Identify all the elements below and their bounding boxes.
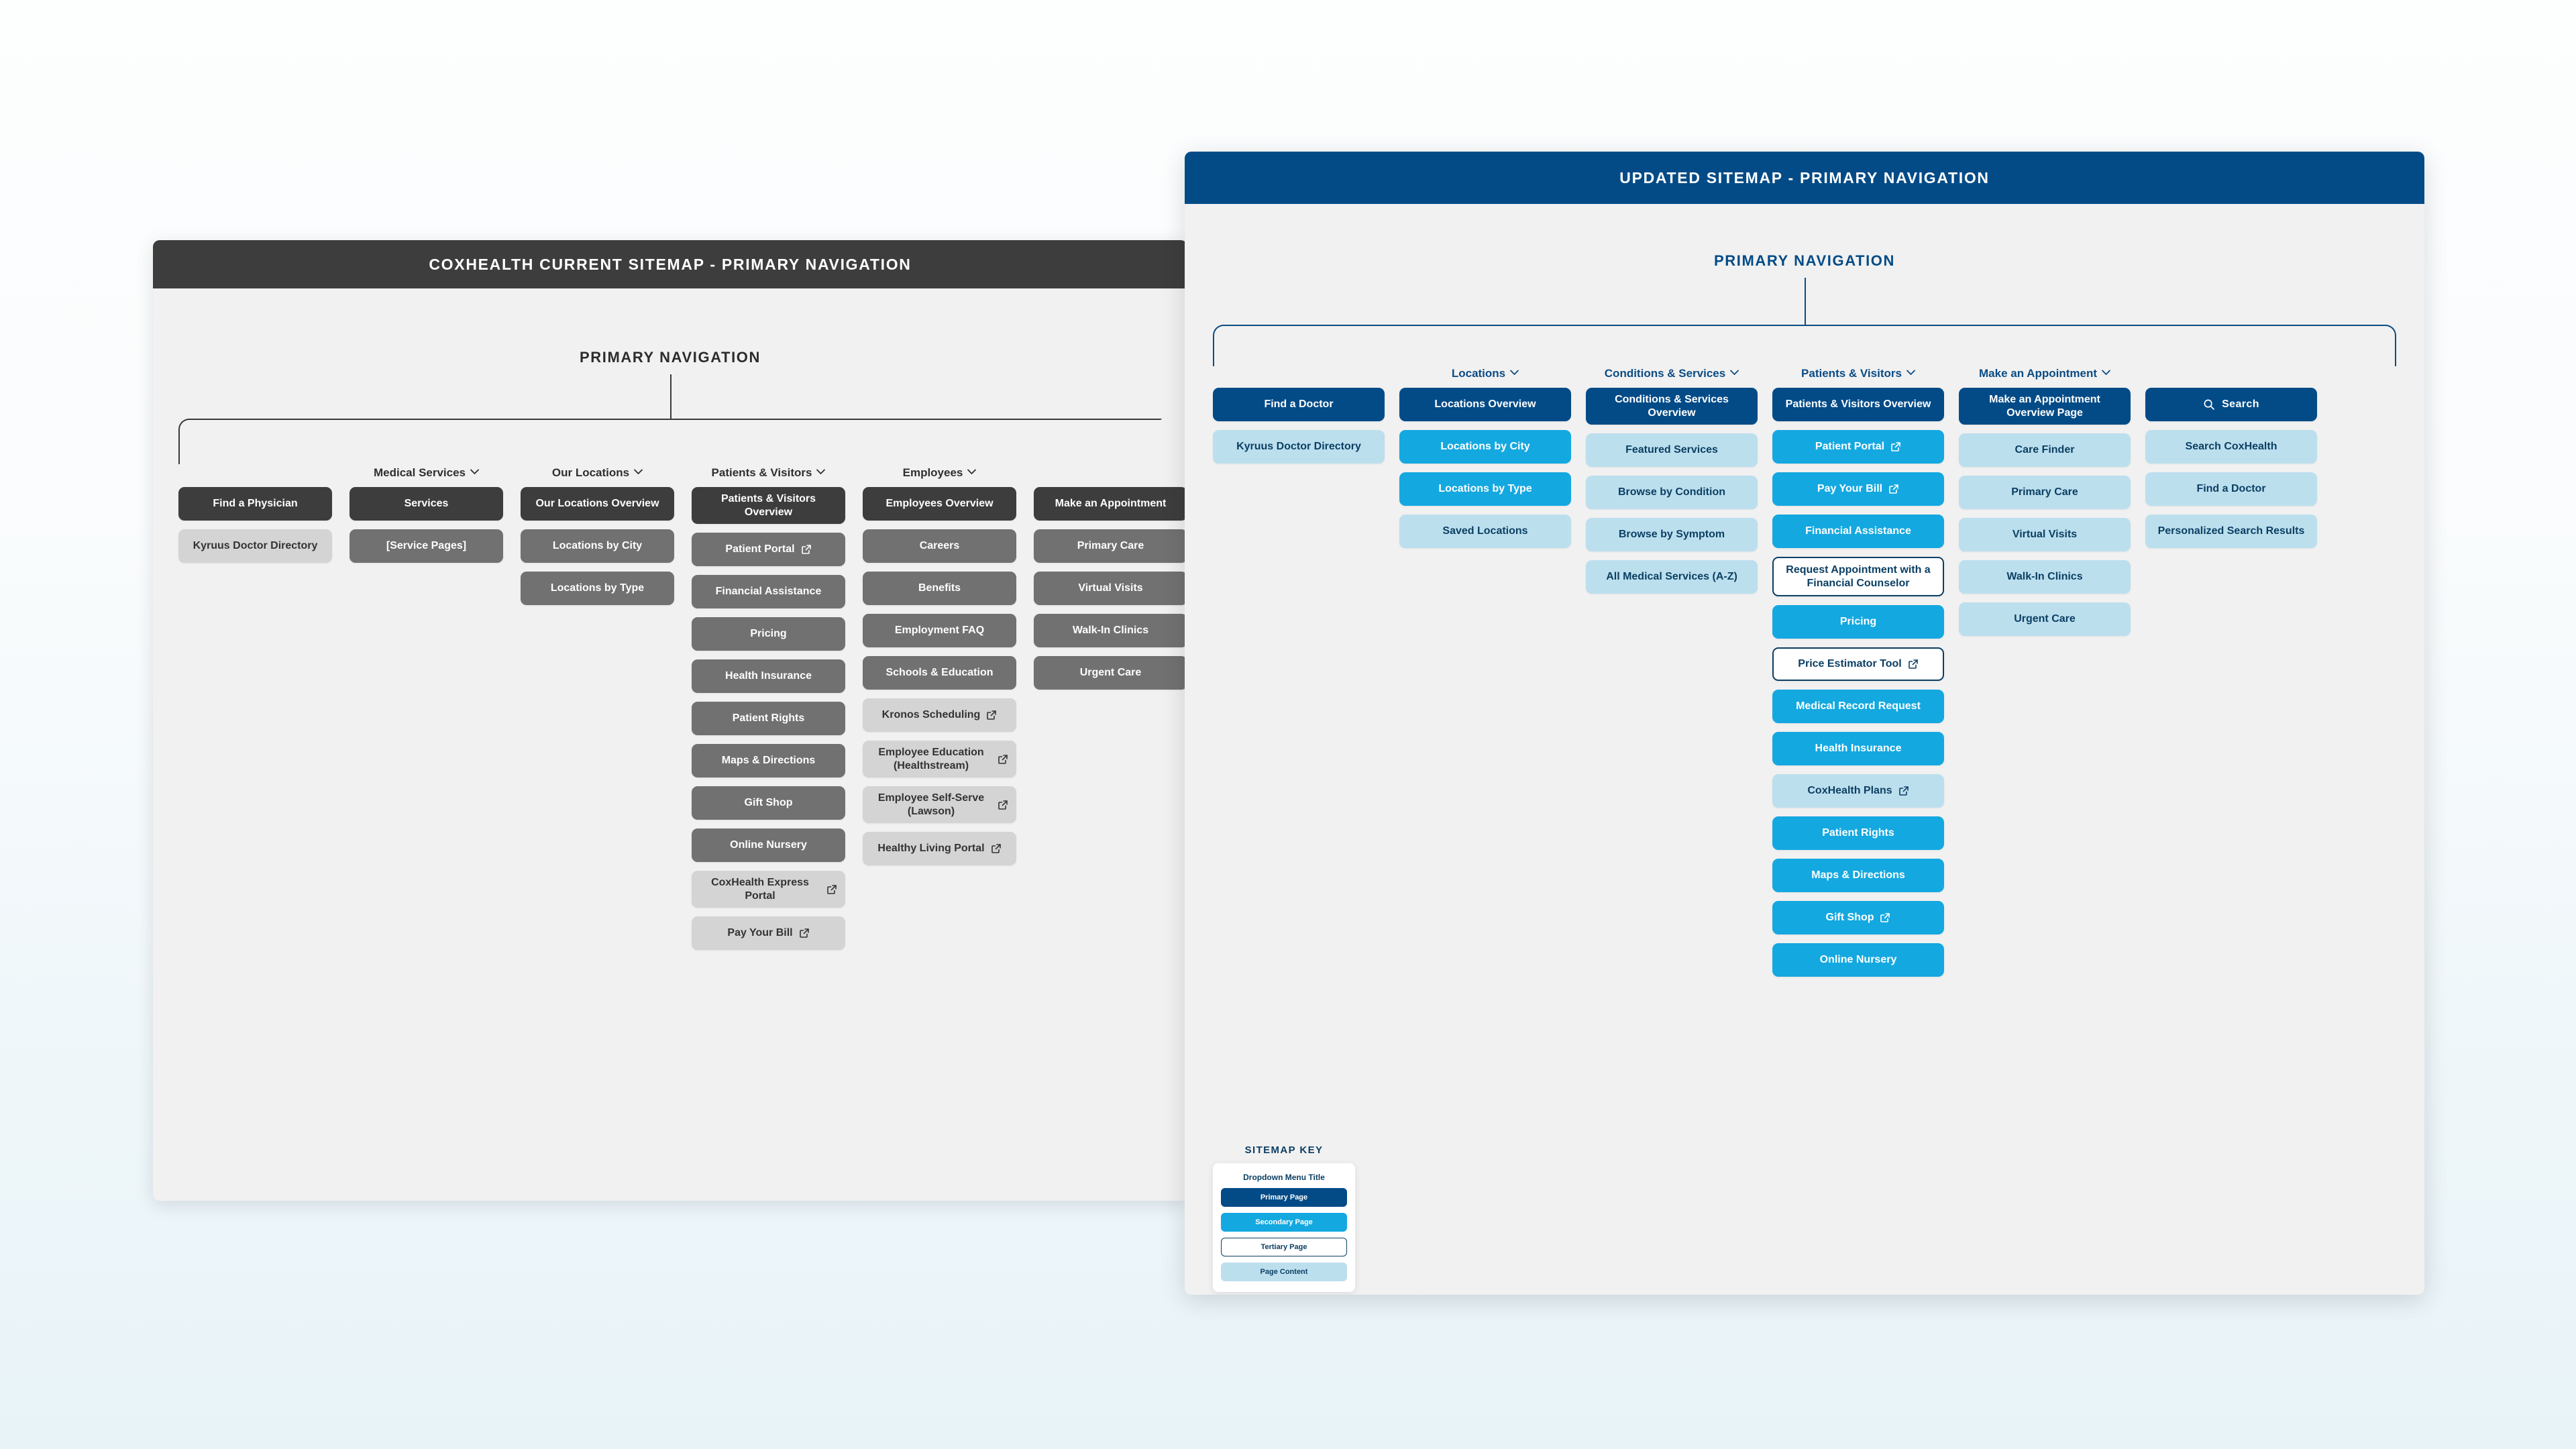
external-link-icon [799,928,810,938]
external-link-icon [1898,786,1909,796]
sitemap-node[interactable]: Schools & Education [863,656,1016,690]
sitemap-node-label: Urgent Care [1080,666,1142,680]
sitemap-node[interactable]: Services [350,487,503,521]
sitemap-column: LocationsLocations OverviewLocations by … [1399,365,1571,557]
sitemap-node[interactable]: Gift Shop [1772,901,1944,934]
current-sitemap-title: COXHEALTH CURRENT SITEMAP - PRIMARY NAVI… [429,256,911,274]
sitemap-node-label: Schools & Education [885,666,993,680]
sitemap-node[interactable]: Patient Rights [692,702,845,735]
sitemap-node[interactable]: Patient Portal [692,533,845,566]
sitemap-node-label: Patient Rights [733,712,805,725]
sitemap-node[interactable]: Locations Overview [1399,388,1571,421]
sitemap-node-label: Employee Self-Serve (Lawson) [871,792,991,818]
column-title[interactable]: Make an Appointment [1959,365,2131,380]
sitemap-node[interactable]: Careers [863,529,1016,563]
sitemap-node[interactable]: Pay Your Bill [1772,472,1944,506]
sitemap-node[interactable]: Virtual Visits [1034,572,1187,605]
sitemap-node-label: Find a Doctor [2196,482,2265,496]
sitemap-node[interactable]: Patients & Visitors Overview [692,487,845,524]
sitemap-node[interactable]: All Medical Services (A-Z) [1586,560,1758,594]
sitemap-node[interactable]: Urgent Care [1959,602,2131,636]
sitemap-node-label: Conditions & Services Overview [1594,393,1750,419]
sitemap-node[interactable]: Financial Assistance [692,575,845,608]
chevron-down-icon [1730,365,1739,380]
sitemap-node[interactable]: Pay Your Bill [692,916,845,950]
sitemap-node-label: Request Appointment with a Financial Cou… [1782,563,1935,590]
sitemap-node[interactable]: Kyruus Doctor Directory [178,529,332,563]
sitemap-node[interactable]: Gift Shop [692,786,845,820]
sitemap-node-label: Patient Rights [1822,826,1894,840]
external-link-icon [801,544,812,555]
key-item-content: Page Content [1221,1263,1347,1281]
sitemap-node-label: Pay Your Bill [727,926,792,940]
updated-columns: Find a DoctorKyruus Doctor DirectoryLoca… [1213,365,2396,985]
sitemap-node-label: Locations by Type [1438,482,1532,496]
sitemap-key-card: Dropdown Menu Title Primary PageSecondar… [1213,1163,1355,1292]
sitemap-node-label: Walk-In Clinics [1073,624,1148,637]
sitemap-node-label: Online Nursery [730,839,807,852]
sitemap-node[interactable]: Price Estimator Tool [1772,647,1944,681]
sitemap-node-label: Health Insurance [1815,742,1902,755]
sitemap-node[interactable]: Kronos Scheduling [863,698,1016,732]
current-connector-stem [670,374,672,419]
sitemap-node-label: Medical Record Request [1796,700,1921,713]
sitemap-column: Find a DoctorKyruus Doctor Directory [1213,365,1385,472]
sitemap-node-label: Kyruus Doctor Directory [1236,440,1361,453]
sitemap-node[interactable]: Health Insurance [692,659,845,693]
sitemap-column: SearchSearch CoxHealthFind a DoctorPerso… [2145,365,2317,557]
sitemap-node-label: Find a Doctor [1264,398,1333,411]
current-root-label: PRIMARY NAVIGATION [153,349,1187,366]
sitemap-node-label: Health Insurance [725,669,812,683]
sitemap-node[interactable]: Healthy Living Portal [863,832,1016,865]
updated-connector-stem [1805,278,1806,325]
sitemap-node-label: All Medical Services (A-Z) [1606,570,1737,584]
key-item-primary: Primary Page [1221,1188,1347,1207]
external-link-icon [998,800,1008,810]
sitemap-node[interactable]: Locations by Type [1399,472,1571,506]
sitemap-node[interactable]: Health Insurance [1772,732,1944,765]
sitemap-node[interactable]: Benefits [863,572,1016,605]
column-title[interactable]: Locations [1399,365,1571,380]
external-link-icon [1890,441,1901,452]
sitemap-node[interactable]: Patient Rights [1772,816,1944,850]
chevron-down-icon [1907,365,1915,380]
sitemap-node[interactable]: Browse by Condition [1586,476,1758,509]
sitemap-node[interactable]: Our Locations Overview [521,487,674,521]
sitemap-node[interactable]: Request Appointment with a Financial Cou… [1772,557,1944,596]
sitemap-node-label: Online Nursery [1820,953,1897,967]
sitemap-node-label: Our Locations Overview [535,497,659,511]
sitemap-node-label: Pay Your Bill [1817,482,1882,496]
external-link-icon [986,710,997,720]
sitemap-node[interactable]: Search [2145,388,2317,421]
sitemap-node[interactable]: Browse by Symptom [1586,518,1758,551]
sitemap-node-label: Gift Shop [1826,911,1874,924]
sitemap-node-label: Maps & Directions [722,754,816,767]
sitemap-node-label: Search [2222,398,2259,411]
key-dropdown-label: Dropdown Menu Title [1221,1173,1347,1182]
sitemap-node[interactable]: Find a Doctor [2145,472,2317,506]
sitemap-node[interactable]: Walk-In Clinics [1959,560,2131,594]
sitemap-node[interactable]: Walk-In Clinics [1034,614,1187,647]
column-title[interactable]: Employees [863,464,1016,479]
sitemap-column: Patients & VisitorsPatients & Visitors O… [1772,365,1944,985]
sitemap-column: EmployeesEmployees OverviewCareersBenefi… [863,464,1016,874]
sitemap-node[interactable]: Locations by Type [521,572,674,605]
updated-sitemap-title: UPDATED SITEMAP - PRIMARY NAVIGATION [1619,169,1989,187]
chevron-down-icon [470,464,479,479]
sitemap-node-label: CoxHealth Plans [1807,784,1892,798]
sitemap-key: SITEMAP KEY Dropdown Menu Title Primary … [1213,1144,1355,1292]
sitemap-node-label: Urgent Care [2014,612,2076,626]
current-sitemap-panel: COXHEALTH CURRENT SITEMAP - PRIMARY NAVI… [153,240,1187,1201]
sitemap-node[interactable]: Make an Appointment [1034,487,1187,521]
sitemap-node[interactable]: Patients & Visitors Overview [1772,388,1944,421]
sitemap-node-label: Gift Shop [745,796,793,810]
chevron-down-icon [634,464,643,479]
sitemap-node-label: Primary Care [1077,539,1144,553]
sitemap-node[interactable]: Locations by City [1399,430,1571,464]
sitemap-node[interactable]: Saved Locations [1399,515,1571,548]
sitemap-node-label: Care Finder [2015,443,2075,457]
sitemap-node[interactable]: Maps & Directions [692,744,845,777]
sitemap-node-label: Locations by City [553,539,642,553]
external-link-icon [991,843,1002,854]
sitemap-node[interactable]: Featured Services [1586,433,1758,467]
sitemap-node-label: Maps & Directions [1811,869,1905,882]
sitemap-node-label: Financial Assistance [716,585,822,598]
sitemap-node[interactable]: Primary Care [1034,529,1187,563]
sitemap-node[interactable]: Pricing [692,617,845,651]
sitemap-key-title: SITEMAP KEY [1213,1144,1355,1156]
sitemap-node[interactable]: Employees Overview [863,487,1016,521]
sitemap-node[interactable]: CoxHealth Express Portal [692,871,845,908]
current-sitemap-header: COXHEALTH CURRENT SITEMAP - PRIMARY NAVI… [153,240,1187,288]
sitemap-node[interactable]: Care Finder [1959,433,2131,467]
search-icon [2203,398,2215,411]
sitemap-node[interactable]: Locations by City [521,529,674,563]
sitemap-node[interactable]: [Service Pages] [350,529,503,563]
chevron-down-icon [967,464,976,479]
sitemap-node-label: Locations Overview [1434,398,1536,411]
external-link-icon [1880,912,1890,923]
updated-sitemap-panel: UPDATED SITEMAP - PRIMARY NAVIGATION PRI… [1185,152,2424,1295]
sitemap-node[interactable]: Make an Appointment Overview Page [1959,388,2131,425]
external-link-icon [998,754,1008,765]
sitemap-node-label: Search CoxHealth [2186,440,2277,453]
sitemap-node-label: Kronos Scheduling [882,708,981,722]
chevron-down-icon [816,464,825,479]
external-link-icon [1908,659,1919,669]
sitemap-node[interactable]: Medical Record Request [1772,690,1944,723]
sitemap-node[interactable]: Online Nursery [692,828,845,862]
sitemap-column: Make an AppointmentPrimary CareVirtual V… [1034,464,1187,698]
sitemap-node[interactable]: Urgent Care [1034,656,1187,690]
sitemap-column: Find a PhysicianKyruus Doctor Directory [178,464,332,572]
sitemap-node-label: Healthy Living Portal [877,842,984,855]
sitemap-node-label: Employees Overview [885,497,993,511]
column-title[interactable]: Patients & Visitors [1772,365,1944,380]
sitemap-node[interactable]: Maps & Directions [1772,859,1944,892]
sitemap-node-label: Services [405,497,449,511]
sitemap-node-label: Patients & Visitors Overview [700,492,837,519]
sitemap-node[interactable]: Employment FAQ [863,614,1016,647]
sitemap-node-label: Benefits [918,582,961,595]
sitemap-node-label: Browse by Symptom [1619,528,1725,541]
sitemap-node-label: Locations by Type [551,582,644,595]
sitemap-node[interactable]: Virtual Visits [1959,518,2131,551]
sitemap-node-label: Find a Physician [213,497,297,511]
sitemap-node[interactable]: Online Nursery [1772,943,1944,977]
sitemap-node-label: Featured Services [1625,443,1718,457]
sitemap-node-label: Price Estimator Tool [1798,657,1901,671]
sitemap-node-label: Kyruus Doctor Directory [193,539,318,553]
sitemap-column: Patients & VisitorsPatients & Visitors O… [692,464,845,959]
sitemap-node-label: Browse by Condition [1618,486,1725,499]
sitemap-node-label: Pricing [750,627,786,641]
sitemap-node[interactable]: Employee Education (Healthstream) [863,741,1016,777]
sitemap-node-label: Saved Locations [1442,525,1527,538]
sitemap-node-label: Virtual Visits [2012,528,2077,541]
sitemap-node[interactable]: Financial Assistance [1772,515,1944,548]
sitemap-node[interactable]: Patient Portal [1772,430,1944,464]
sitemap-node-label: Patient Portal [725,543,794,556]
updated-sitemap-header: UPDATED SITEMAP - PRIMARY NAVIGATION [1185,152,2424,204]
sitemap-node-label: Financial Assistance [1805,525,1911,538]
sitemap-node-label: Make an Appointment [1055,497,1167,511]
current-connector-bracket [178,419,1162,464]
sitemap-column: Medical ServicesServices[Service Pages] [350,464,503,572]
external-link-icon [1888,484,1899,494]
sitemap-node-label: Pricing [1840,615,1876,629]
sitemap-node[interactable]: CoxHealth Plans [1772,774,1944,808]
current-columns: Find a PhysicianKyruus Doctor DirectoryM… [178,464,1187,959]
sitemap-node-label: Virtual Visits [1078,582,1142,595]
sitemap-node-label: Make an Appointment Overview Page [1967,393,2123,419]
sitemap-node-label: Walk-In Clinics [2006,570,2082,584]
chevron-down-icon [1510,365,1519,380]
sitemap-node[interactable]: Pricing [1772,605,1944,639]
sitemap-column: Our LocationsOur Locations OverviewLocat… [521,464,674,614]
sitemap-node-label: [Service Pages] [386,539,466,553]
sitemap-node[interactable]: Personalized Search Results [2145,515,2317,548]
sitemap-node[interactable]: Find a Doctor [1213,388,1385,421]
sitemap-node[interactable]: Kyruus Doctor Directory [1213,430,1385,464]
key-item-list: Primary PageSecondary PageTertiary PageP… [1221,1188,1347,1281]
sitemap-node-label: Patient Portal [1815,440,1884,453]
updated-root-label: PRIMARY NAVIGATION [1185,252,2424,270]
column-title[interactable]: Medical Services [350,464,503,479]
sitemap-node-label: Locations by City [1440,440,1529,453]
sitemap-column: Conditions & ServicesConditions & Servic… [1586,365,1758,602]
external-link-icon [826,884,837,895]
key-item-secondary: Secondary Page [1221,1213,1347,1232]
column-title[interactable]: Our Locations [521,464,674,479]
sitemap-node-label: Personalized Search Results [2158,525,2305,538]
sitemap-node-label: Primary Care [2011,486,2078,499]
sitemap-node-label: Patients & Visitors Overview [1786,398,1931,411]
sitemap-node-label: Employee Education (Healthstream) [871,746,991,772]
sitemap-node-label: CoxHealth Express Portal [700,876,820,902]
sitemap-node-label: Employment FAQ [895,624,984,637]
sitemap-node[interactable]: Find a Physician [178,487,332,521]
sitemap-column: Make an AppointmentMake an Appointment O… [1959,365,2131,645]
updated-connector-bracket [1213,325,2396,366]
sitemap-node[interactable]: Search CoxHealth [2145,430,2317,464]
sitemap-node[interactable]: Conditions & Services Overview [1586,388,1758,425]
chevron-down-icon [2102,365,2110,380]
sitemap-node[interactable]: Primary Care [1959,476,2131,509]
column-title[interactable]: Patients & Visitors [692,464,845,479]
column-title[interactable]: Conditions & Services [1586,365,1758,380]
sitemap-node-label: Careers [920,539,960,553]
sitemap-node[interactable]: Employee Self-Serve (Lawson) [863,786,1016,823]
key-item-tertiary: Tertiary Page [1221,1238,1347,1256]
